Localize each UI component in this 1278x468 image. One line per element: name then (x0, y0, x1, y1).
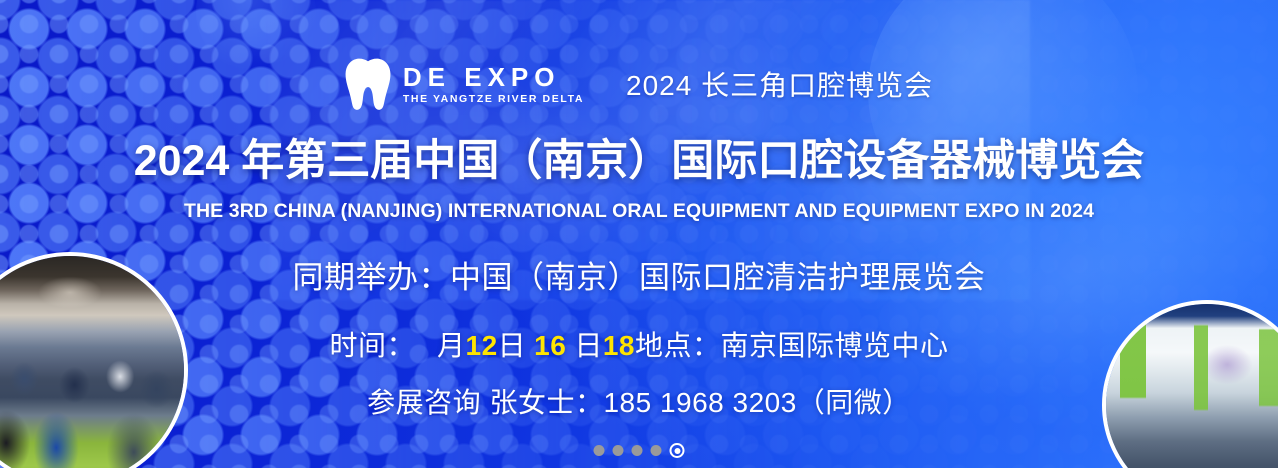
carousel-dot-2[interactable] (613, 445, 624, 456)
carousel-dots[interactable] (594, 443, 685, 458)
carousel-dot-5-active[interactable] (670, 443, 685, 458)
date-day-char-2: 日 (574, 324, 603, 364)
venue-label: 地点： (635, 324, 721, 364)
date-day-char-1: 日 (498, 324, 527, 364)
date-label: 时间： (329, 324, 415, 364)
carousel-dot-1[interactable] (594, 445, 605, 456)
logo-row: DE EXPO THE YANGTZE RIVER DELTA 2024 长三角… (345, 58, 933, 110)
contact-line: 参展咨询 张女士：185 1968 3203（同微） (367, 381, 911, 421)
tooth-icon (345, 58, 391, 110)
secondary-title: 2024 长三角口腔博览会 (626, 64, 933, 104)
de-expo-logo[interactable]: DE EXPO THE YANGTZE RIVER DELTA (345, 58, 584, 110)
english-title: THE 3RD CHINA (NANJING) INTERNATIONAL OR… (184, 200, 1094, 223)
concurrent-event-title: 同期举办：中国（南京）国际口腔清洁护理展览会 (293, 252, 986, 297)
date-and-venue-line: 时间： 月 12 日 16 日 18 地点： 南京国际博览中心 (329, 324, 948, 364)
main-title: 2024 年第三届中国（南京）国际口腔设备器械博览会 (134, 126, 1145, 188)
logo-wordmark: DE EXPO (403, 64, 584, 90)
date-number-2: 16 (534, 330, 566, 362)
expo-banner-slide[interactable]: DE EXPO THE YANGTZE RIVER DELTA 2024 长三角… (0, 0, 1278, 468)
carousel-dot-4[interactable] (651, 445, 662, 456)
logo-text-block: DE EXPO THE YANGTZE RIVER DELTA (403, 64, 584, 105)
venue-name: 南京国际博览中心 (721, 324, 949, 364)
date-number-1: 12 (466, 330, 498, 362)
logo-tagline: THE YANGTZE RIVER DELTA (403, 94, 584, 105)
date-month-char: 月 (437, 324, 466, 364)
carousel-dot-3[interactable] (632, 445, 643, 456)
banner-content: DE EXPO THE YANGTZE RIVER DELTA 2024 长三角… (0, 0, 1278, 468)
date-number-3: 18 (603, 330, 635, 362)
